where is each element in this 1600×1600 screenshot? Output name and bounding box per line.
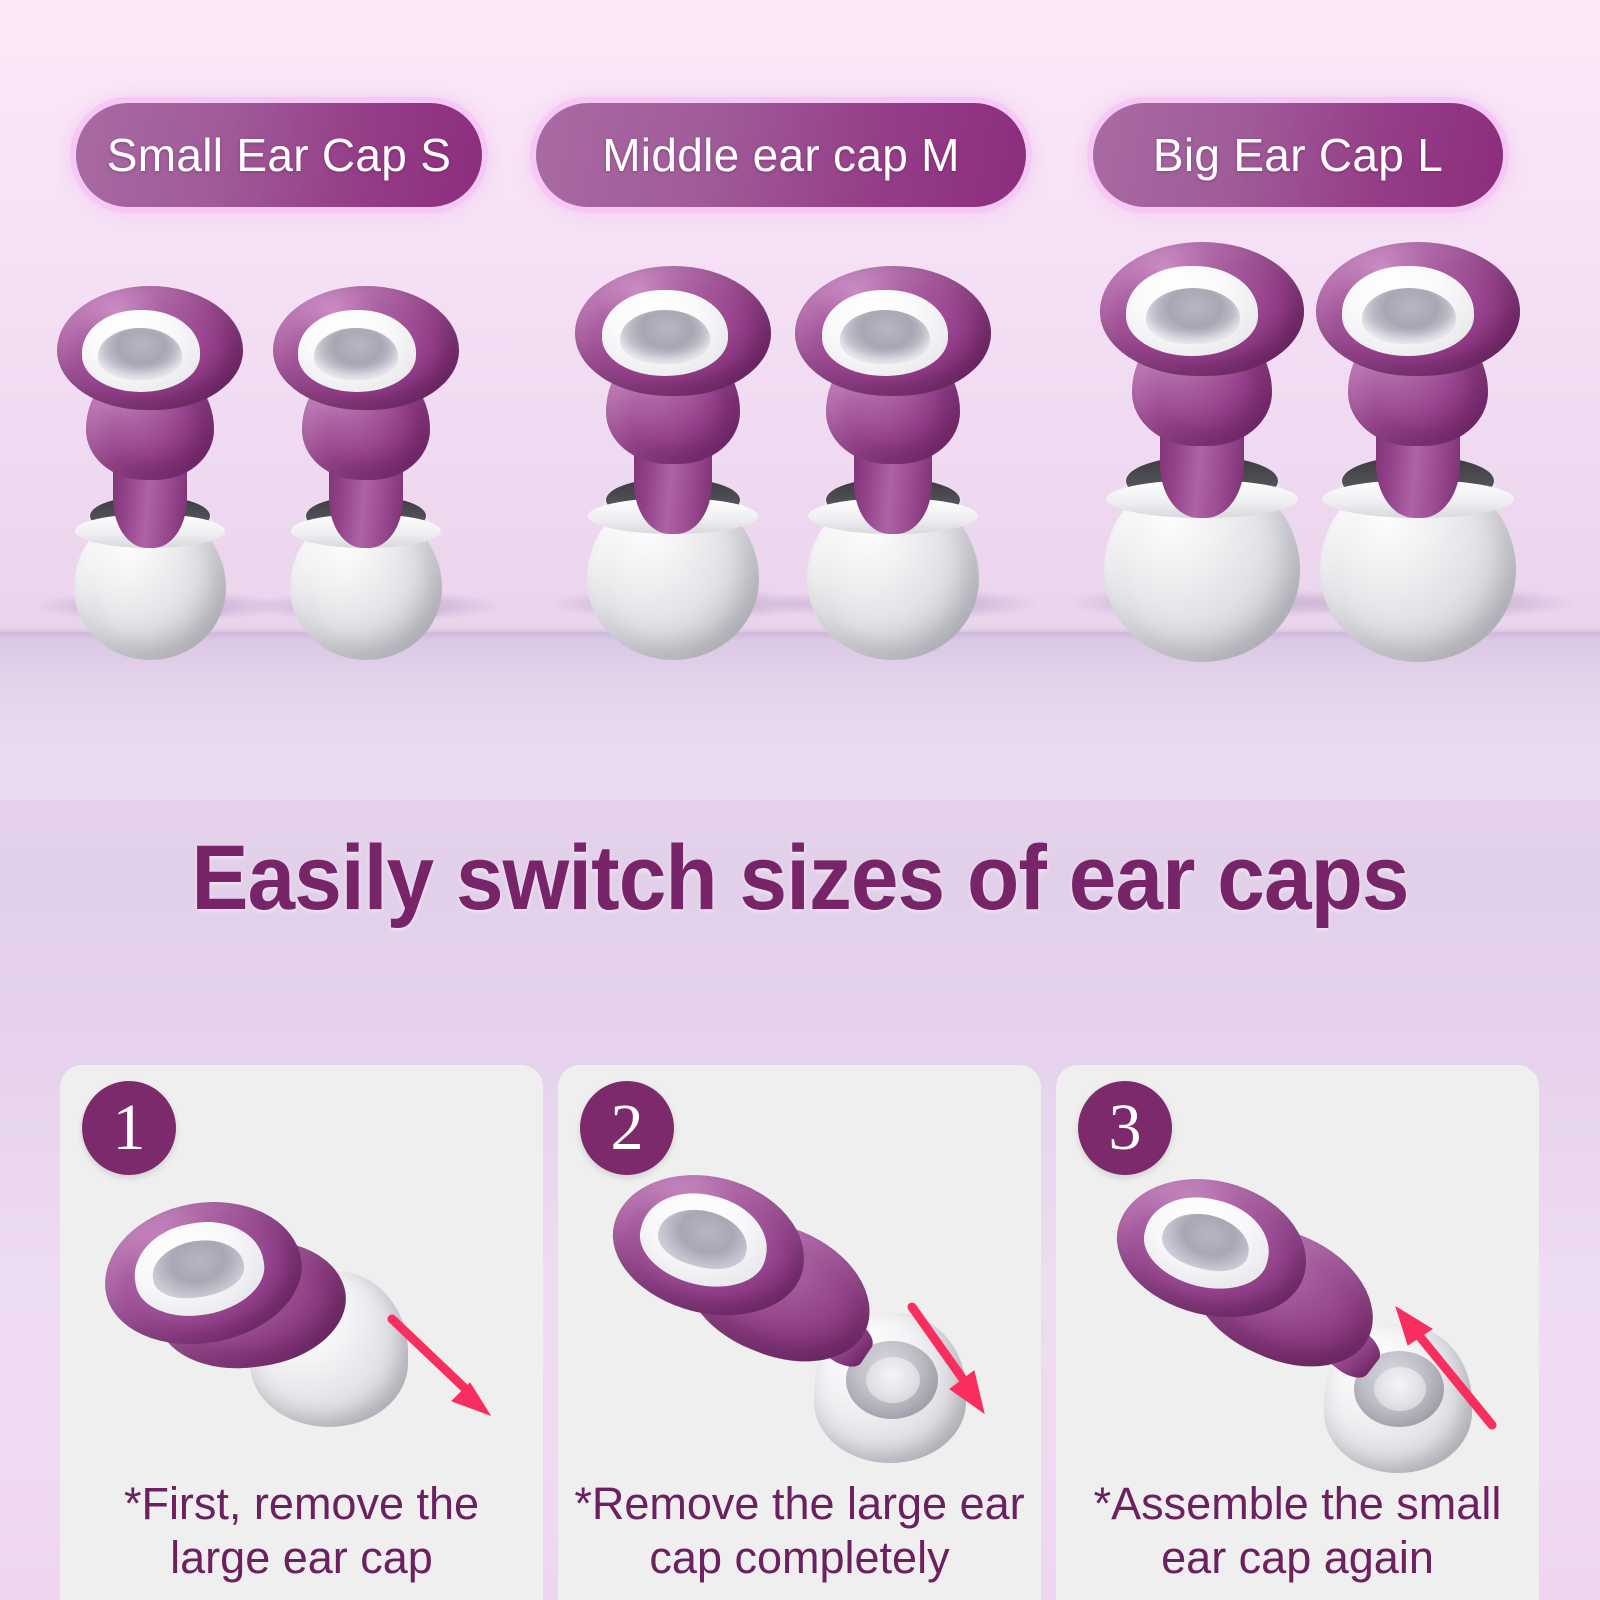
size-pill-large[interactable]: Big Ear Cap L xyxy=(1093,103,1503,207)
step-illustration-3 xyxy=(1056,1165,1539,1465)
step-number-badge-2: 2 xyxy=(580,1081,674,1175)
product-infographic-page: Small Ear Cap S Middle ear cap M Big Ear… xyxy=(0,0,1600,1600)
earplug-large-right xyxy=(1308,280,1528,662)
size-pill-small[interactable]: Small Ear Cap S xyxy=(76,103,482,207)
step-illustration-2 xyxy=(558,1165,1041,1465)
step-illustration-1 xyxy=(60,1165,543,1465)
step-caption-1: *First, remove the large ear cap xyxy=(68,1477,535,1585)
earplug-medium-right xyxy=(790,288,995,660)
step-caption-3: *Assemble the small ear cap again xyxy=(1064,1477,1531,1585)
size-pill-medium[interactable]: Middle ear cap M xyxy=(536,103,1026,207)
step-card-2: 2 *Remove the large ear cap completely xyxy=(558,1065,1041,1600)
earplug-medium-left xyxy=(570,288,775,660)
size-pill-medium-label: Middle ear cap M xyxy=(602,128,960,182)
earplug-small-right xyxy=(268,300,463,660)
arrow-up-left-icon-3 xyxy=(1374,1295,1514,1445)
arrow-down-right-icon-1 xyxy=(378,1305,508,1435)
step-number-badge-1: 1 xyxy=(82,1081,176,1175)
earplug-large-left xyxy=(1092,280,1312,662)
step-caption-2: *Remove the large ear cap completely xyxy=(566,1477,1033,1585)
step-card-3: 3 *Assemble the small ear cap again xyxy=(1056,1065,1539,1600)
size-pill-large-label: Big Ear Cap L xyxy=(1153,128,1443,182)
step-card-1: 1 *First, remove the large ear cap xyxy=(60,1065,543,1600)
step-number-badge-3: 3 xyxy=(1078,1081,1172,1175)
page-headline: Easily switch sizes of ear caps xyxy=(56,826,1544,931)
earplug-small-left xyxy=(52,300,247,660)
size-pill-small-label: Small Ear Cap S xyxy=(107,128,452,182)
arrow-down-right-icon-2 xyxy=(888,1293,1018,1433)
